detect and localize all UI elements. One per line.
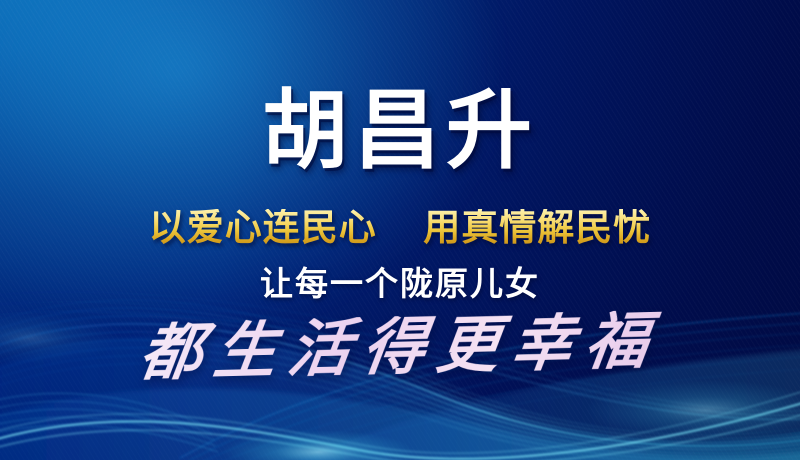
slogan-white: 让每一个陇原儿女	[0, 267, 800, 300]
slogan-gold-right: 用真情解民忧	[423, 207, 651, 248]
page-title: 胡昌升	[0, 88, 800, 174]
promo-banner: 胡昌升 以爱心连民心 用真情解民忧 让每一个陇原儿女 都生活得更幸福	[0, 0, 800, 460]
slogan-gold-left: 以爱心连民心	[149, 207, 377, 248]
slogan-gold: 以爱心连民心 用真情解民忧	[0, 209, 800, 246]
slogan-calligraphy: 都生活得更幸福	[0, 306, 800, 391]
banner-content: 胡昌升 以爱心连民心 用真情解民忧 让每一个陇原儿女 都生活得更幸福	[0, 0, 800, 460]
